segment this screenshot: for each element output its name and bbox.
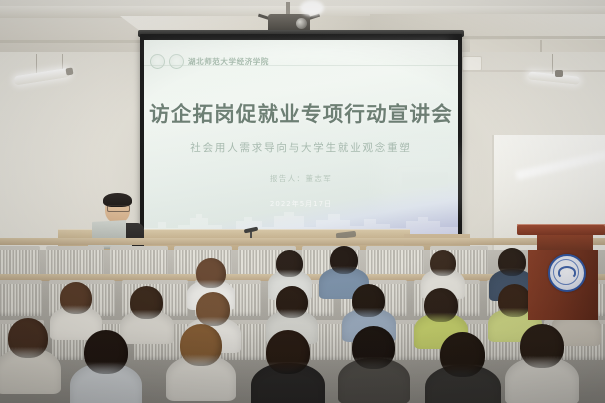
audience-person-head [424,288,458,322]
podium-top [517,225,605,235]
audience-person-head [180,324,222,366]
audience-person-head [276,286,308,318]
audience-person-head [498,248,526,276]
audience-person-head [276,250,303,277]
audience-person-head [266,330,310,374]
audience-person-head [84,330,128,374]
audience-person-head [330,246,358,274]
audience-person-head [352,284,385,317]
audience-people-layer [0,0,605,403]
audience-person-head [60,282,92,314]
audience-person-head [196,258,226,288]
audience-person-head [430,250,456,276]
audience-person-head [520,324,564,368]
audience-person-head [352,326,395,369]
audience-person-head [130,286,163,319]
audience-person-head [8,318,48,358]
lecture-hall-photo: 湖北师范大学经济学院 访企拓岗促就业专项行动宣讲会 社会用人需求导向与大学生就业… [0,0,605,403]
podium-emblem-mark [558,266,576,279]
audience-person-head [440,332,485,377]
audience-person-head [196,292,230,326]
audience-person-head [498,284,531,317]
